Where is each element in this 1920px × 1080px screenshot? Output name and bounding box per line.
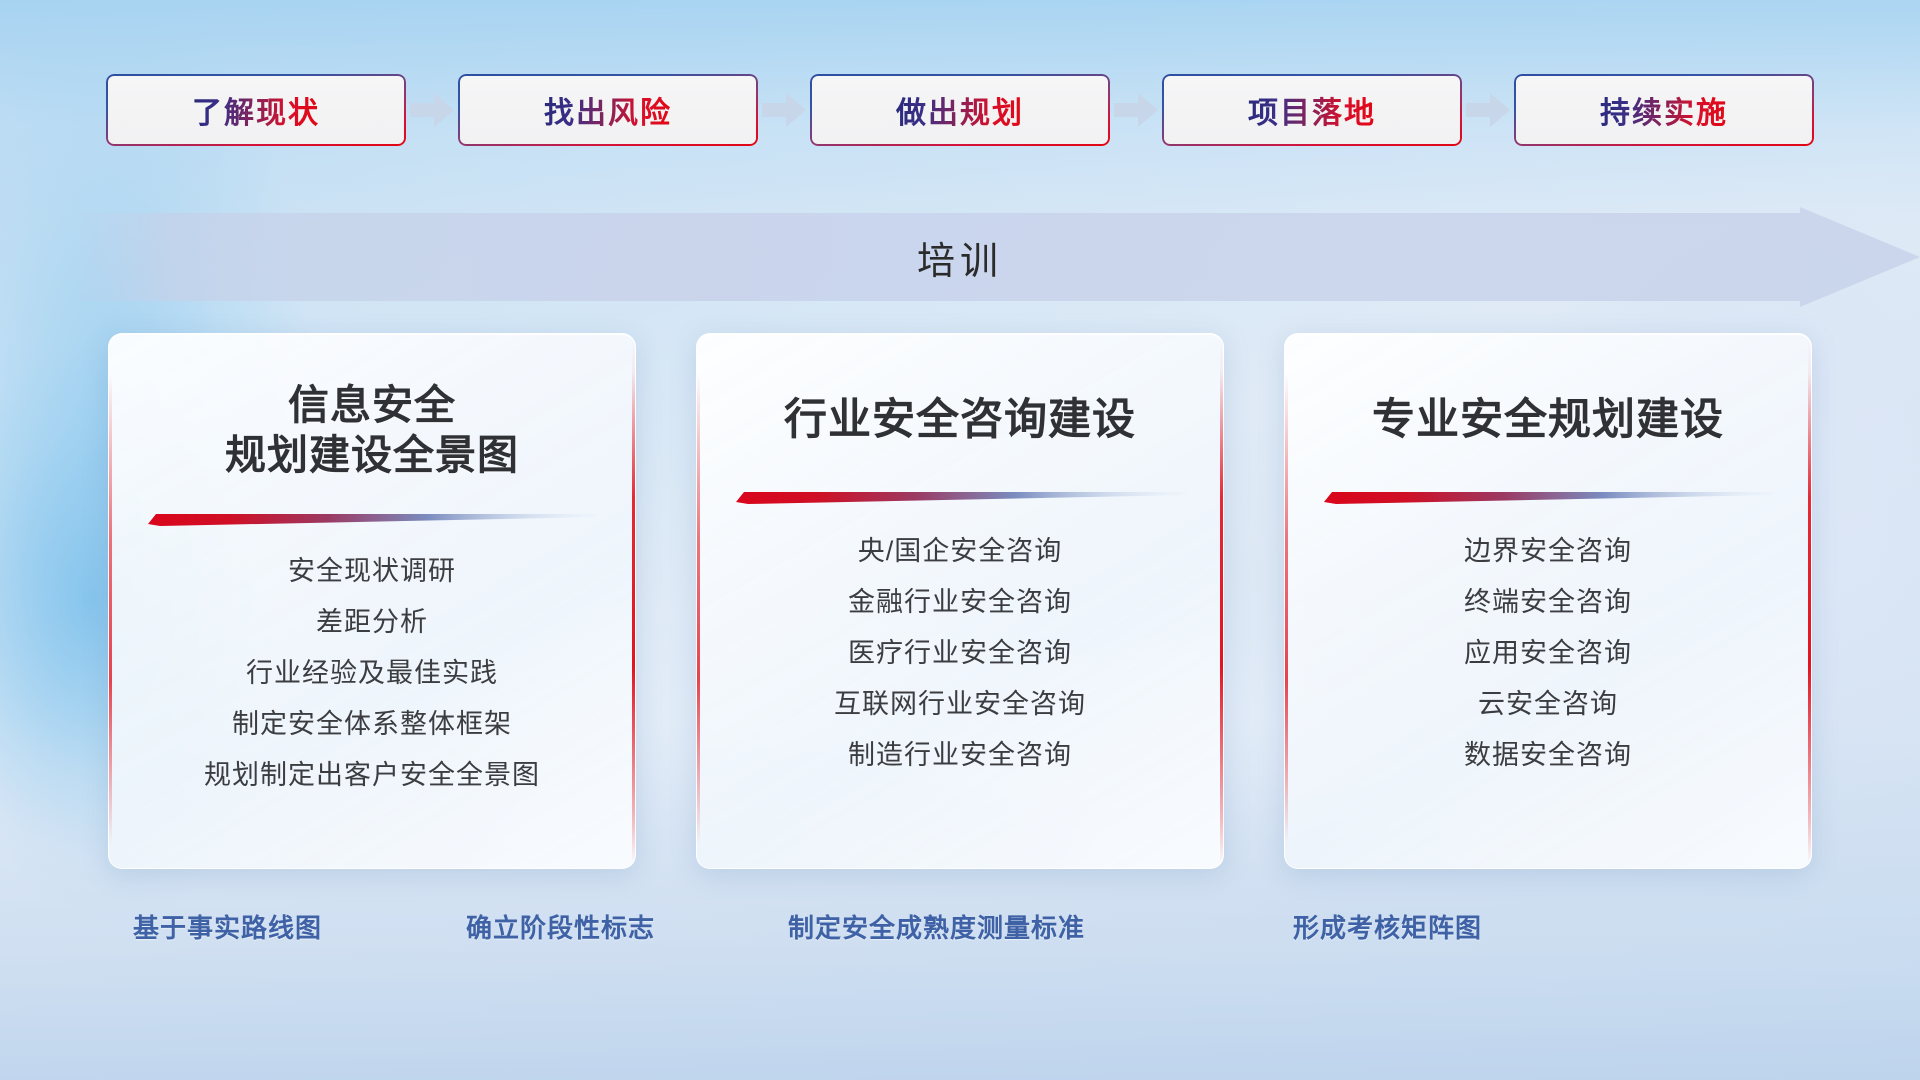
process-step-3[interactable]: 项目落地 xyxy=(1162,74,1462,146)
list-item: 央/国企安全咨询 xyxy=(858,526,1063,577)
list-item: 制定安全体系整体框架 xyxy=(232,699,512,750)
footer-label: 形成考核矩阵图 xyxy=(1293,908,1482,945)
card-divider-rule xyxy=(1322,488,1774,504)
card-info-security-panorama[interactable]: 信息安全 规划建设全景图 xyxy=(108,333,636,869)
list-item: 规划制定出客户安全全景图 xyxy=(204,750,540,801)
list-item: 行业经验及最佳实践 xyxy=(246,648,498,699)
list-item: 金融行业安全咨询 xyxy=(848,577,1072,628)
right-arrow-icon xyxy=(1110,72,1162,147)
process-step-1[interactable]: 找出风险 xyxy=(458,74,758,146)
footer-label: 制定安全成熟度测量标准 xyxy=(788,908,1085,945)
process-step-label: 项目落地 xyxy=(1248,88,1376,132)
right-arrow-icon xyxy=(406,72,458,147)
card-title-line: 专业安全规划建设 xyxy=(1372,394,1724,446)
right-arrow-icon xyxy=(758,72,810,147)
process-step-label: 持续实施 xyxy=(1600,88,1728,132)
process-step-label: 找出风险 xyxy=(544,88,672,132)
card-divider-rule xyxy=(146,510,598,526)
list-item: 应用安全咨询 xyxy=(1464,628,1632,679)
process-step-label: 做出规划 xyxy=(896,88,1024,132)
card-title-line: 规划建设全景图 xyxy=(225,430,519,480)
list-item: 边界安全咨询 xyxy=(1464,526,1632,577)
list-item: 医疗行业安全咨询 xyxy=(848,628,1072,679)
card-divider-rule xyxy=(734,488,1186,504)
card-title: 专业安全规划建设 xyxy=(1372,394,1724,446)
process-step-0[interactable]: 了解现状 xyxy=(106,74,406,146)
card-row: 信息安全 规划建设全景图 xyxy=(0,333,1920,873)
card-item-list: 央/国企安全咨询 金融行业安全咨询 医疗行业安全咨询 互联网行业安全咨询 制造行… xyxy=(834,526,1086,781)
process-step-2[interactable]: 做出规划 xyxy=(810,74,1110,146)
card-item-list: 边界安全咨询 终端安全咨询 应用安全咨询 云安全咨询 数据安全咨询 xyxy=(1464,526,1632,781)
list-item: 制造行业安全咨询 xyxy=(848,730,1072,781)
process-step-flow: 了解现状 找出风险 做出规划 项目落地 持续实施 xyxy=(0,72,1920,147)
list-item: 数据安全咨询 xyxy=(1464,730,1632,781)
right-arrow-icon xyxy=(1462,72,1514,147)
list-item: 安全现状调研 xyxy=(288,546,456,597)
footer-label-row: 基于事实路线图 确立阶段性标志 制定安全成熟度测量标准 形成考核矩阵图 xyxy=(0,908,1920,958)
training-banner-shape xyxy=(0,207,1920,307)
footer-label: 确立阶段性标志 xyxy=(466,908,655,945)
list-item: 云安全咨询 xyxy=(1478,679,1618,730)
card-title: 行业安全咨询建设 xyxy=(784,394,1136,446)
card-industry-security-consulting[interactable]: 行业安全咨询建设 xyxy=(696,333,1224,869)
process-step-4[interactable]: 持续实施 xyxy=(1514,74,1814,146)
footer-label: 基于事实路线图 xyxy=(133,908,322,945)
card-title: 信息安全 规划建设全景图 xyxy=(225,380,519,480)
card-professional-security-planning[interactable]: 专业安全规划建设 xyxy=(1284,333,1812,869)
card-item-list: 安全现状调研 差距分析 行业经验及最佳实践 制定安全体系整体框架 规划制定出客户… xyxy=(204,546,540,801)
list-item: 差距分析 xyxy=(316,597,428,648)
list-item: 终端安全咨询 xyxy=(1464,577,1632,628)
process-step-label: 了解现状 xyxy=(192,88,320,132)
list-item: 互联网行业安全咨询 xyxy=(834,679,1086,730)
card-title-line: 行业安全咨询建设 xyxy=(784,394,1136,446)
card-title-line: 信息安全 xyxy=(225,380,519,430)
